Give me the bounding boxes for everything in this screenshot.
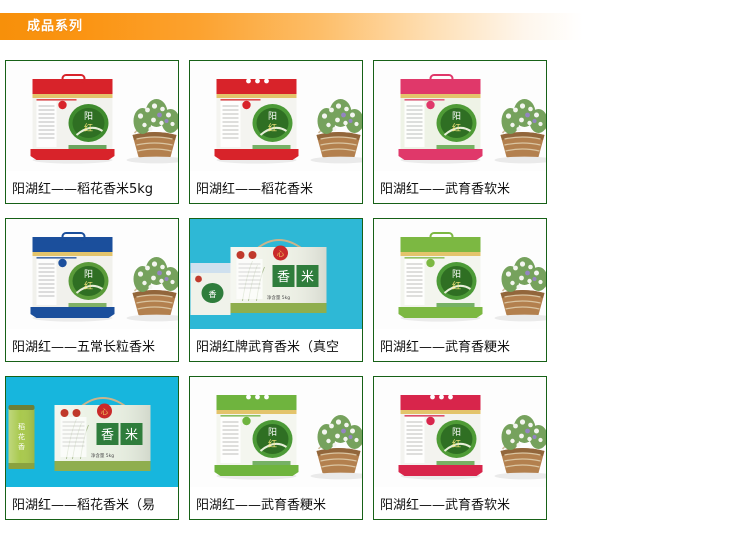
product-card[interactable]: 香 [189, 218, 363, 362]
svg-text:净含量 5kg: 净含量 5kg [91, 452, 114, 459]
svg-text:香: 香 [18, 442, 25, 451]
svg-text:阳: 阳 [84, 269, 93, 280]
svg-text:红: 红 [268, 122, 277, 134]
product-card[interactable]: 阳 红 [5, 60, 179, 204]
product-card[interactable]: 稻 花 香 [5, 376, 179, 520]
product-caption[interactable]: 阳湖红——武育香粳米 [374, 329, 546, 361]
product-card[interactable]: 阳 红 [189, 376, 363, 520]
product-image[interactable]: 稻 花 香 [6, 377, 178, 487]
svg-text:心: 心 [277, 250, 284, 258]
svg-text:阳: 阳 [84, 111, 93, 122]
product-gallery-page: 成品系列 阳 [0, 0, 730, 536]
svg-text:心: 心 [101, 408, 108, 416]
product-caption[interactable]: 阳湖红——稻花香米5kg [6, 171, 178, 203]
product-caption[interactable]: 阳湖红——五常长粒香米 [6, 329, 178, 361]
svg-text:稻: 稻 [18, 422, 25, 431]
product-card[interactable]: 阳 红 [373, 218, 547, 362]
product-card[interactable]: 阳 红 [373, 60, 547, 204]
product-image[interactable]: 阳 红 [190, 377, 362, 487]
svg-text:阳: 阳 [452, 111, 461, 122]
product-image[interactable]: 阳 红 [374, 219, 546, 329]
svg-text:香: 香 [209, 289, 217, 299]
svg-text:阳: 阳 [268, 427, 277, 438]
product-image[interactable]: 阳 红 [374, 377, 546, 487]
svg-text:阳: 阳 [452, 427, 461, 438]
svg-text:阳: 阳 [452, 269, 461, 280]
svg-text:净含量 5kg: 净含量 5kg [267, 294, 290, 301]
product-grid: 阳 红 [5, 60, 727, 534]
product-caption[interactable]: 阳湖红——武育香软米 [374, 171, 546, 203]
svg-text:香: 香 [101, 428, 114, 443]
product-image[interactable]: 阳 红 [6, 219, 178, 329]
product-caption[interactable]: 阳湖红——稻花香米 [190, 171, 362, 203]
product-card[interactable]: 阳 红 [189, 60, 363, 204]
svg-text:阳: 阳 [268, 111, 277, 122]
svg-text:红: 红 [84, 280, 93, 292]
svg-text:红: 红 [268, 438, 277, 450]
product-image[interactable]: 阳 红 [190, 61, 362, 171]
svg-text:红: 红 [452, 122, 461, 134]
product-image[interactable]: 阳 红 [374, 61, 546, 171]
svg-text:红: 红 [452, 280, 461, 292]
product-caption[interactable]: 阳湖红——武育香软米 [374, 487, 546, 519]
product-card[interactable]: 阳 红 [5, 218, 179, 362]
svg-text:米: 米 [301, 270, 314, 285]
product-image[interactable]: 阳 红 [6, 61, 178, 171]
product-caption[interactable]: 阳湖红——稻花香米（易 [6, 487, 178, 519]
svg-text:花: 花 [18, 432, 25, 441]
product-image[interactable]: 香 [190, 219, 362, 329]
product-caption[interactable]: 阳湖红——武育香粳米 [190, 487, 362, 519]
product-caption[interactable]: 阳湖红牌武育香米（真空 [190, 329, 362, 361]
svg-text:红: 红 [452, 438, 461, 450]
svg-text:红: 红 [84, 122, 93, 134]
svg-text:米: 米 [125, 428, 138, 443]
product-card[interactable]: 阳 红 [373, 376, 547, 520]
section-title: 成品系列 [27, 13, 83, 40]
section-header: 成品系列 [0, 13, 583, 40]
svg-text:香: 香 [277, 270, 290, 285]
